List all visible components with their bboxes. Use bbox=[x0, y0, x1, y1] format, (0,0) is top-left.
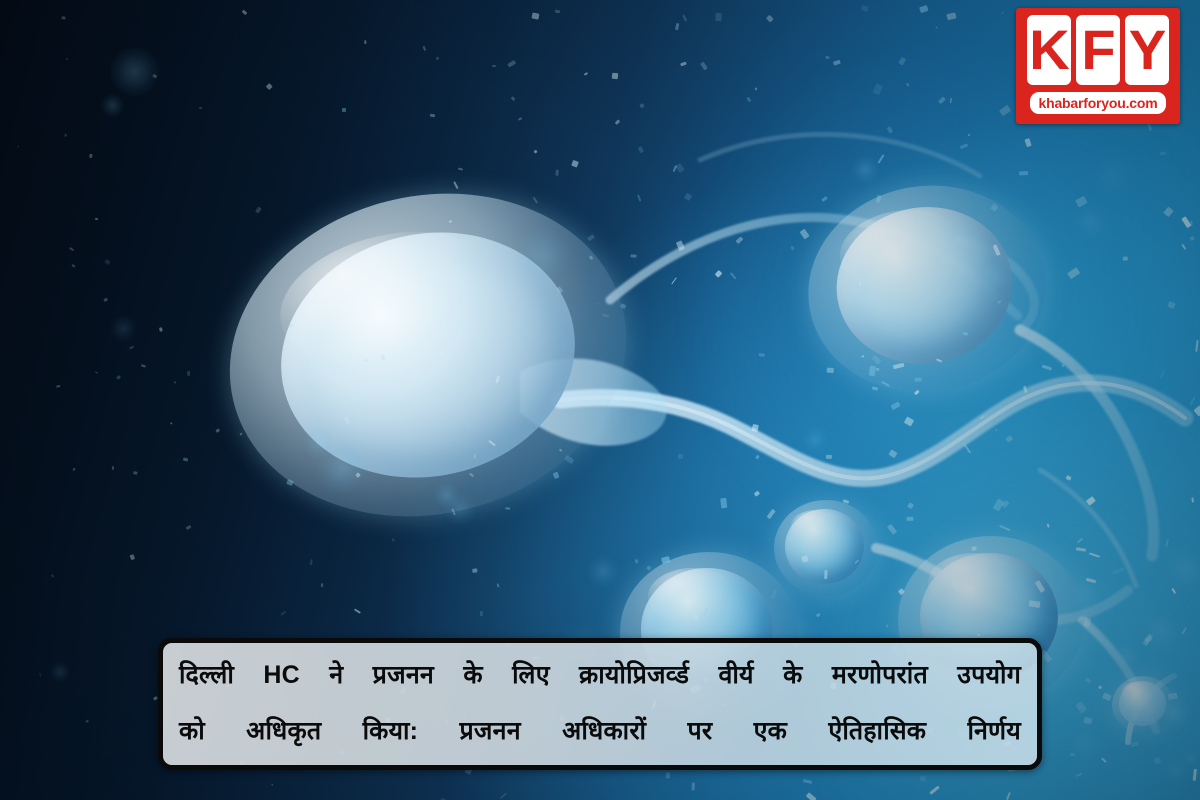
logo-letter-y: Y bbox=[1125, 15, 1169, 85]
kfy-logo[interactable]: K F Y khabarforyou.com bbox=[1016, 8, 1180, 124]
logo-letter-k: K bbox=[1027, 15, 1071, 85]
logo-domain-text: khabarforyou.com bbox=[1030, 92, 1167, 114]
headline-caption-box: दिल्ली HC ने प्रजनन के लिए क्रायोप्रिजर्… bbox=[158, 638, 1042, 770]
news-image-canvas: दिल्ली HC ने प्रजनन के लिए क्रायोप्रिजर्… bbox=[0, 0, 1200, 800]
headline-line-1: दिल्ली HC ने प्रजनन के लिए क्रायोप्रिजर्… bbox=[179, 647, 1021, 703]
logo-letter-f: F bbox=[1076, 15, 1120, 85]
headline-line-2: को अधिकृत किया: प्रजनन अधिकारों पर एक ऐत… bbox=[179, 703, 1021, 759]
logo-letters: K F Y bbox=[1027, 15, 1169, 85]
